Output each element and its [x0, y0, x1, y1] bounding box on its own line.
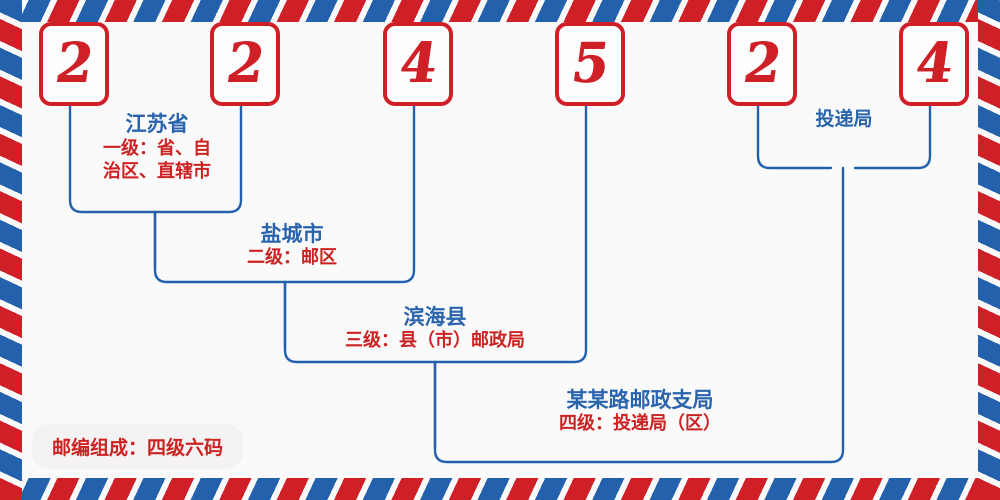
- postcode-digit-3-box[interactable]: 4: [383, 22, 453, 106]
- level-4-title: 某某路邮政支局: [480, 388, 800, 413]
- legend-text: 邮编组成：四级六码: [52, 437, 223, 459]
- postal-code-diagram: 2 2 4 5 2 4 投递局 江苏省 一级：省、自 治区、直辖市 盐城市 二级…: [0, 0, 1000, 500]
- postcode-digit-5-glyph: 2: [740, 36, 784, 91]
- level-2-title: 盐城市: [196, 222, 388, 247]
- level-1-detail-line-2: 治区、直辖市: [66, 160, 248, 183]
- level-2-label: 盐城市 二级：邮区: [196, 222, 388, 268]
- delivery-office-title: 投递局: [760, 108, 928, 130]
- postcode-digit-1-box[interactable]: 2: [39, 22, 109, 106]
- level-3-title: 滨海县: [300, 305, 570, 330]
- postcode-digit-4-glyph: 5: [568, 36, 612, 91]
- postcode-digit-2-box[interactable]: 2: [210, 22, 280, 106]
- legend-badge: 邮编组成：四级六码: [32, 424, 243, 469]
- postcode-digit-6-glyph: 4: [912, 36, 956, 91]
- postcode-digit-2-glyph: 2: [223, 36, 267, 91]
- postcode-digit-4-box[interactable]: 5: [555, 22, 625, 106]
- delivery-office-label: 投递局: [760, 108, 928, 130]
- level-1-title: 江苏省: [66, 112, 248, 137]
- level-4-detail-line-1: 四级：投递局（区）: [480, 413, 800, 434]
- postcode-digit-1-glyph: 2: [52, 36, 96, 91]
- level-1-detail-line-1: 一级：省、自: [66, 137, 248, 160]
- level-3-detail-line-1: 三级：县（市）邮政局: [300, 330, 570, 351]
- level-4-label: 某某路邮政支局 四级：投递局（区）: [480, 388, 800, 434]
- postcode-digit-3-glyph: 4: [396, 36, 440, 91]
- level-3-label: 滨海县 三级：县（市）邮政局: [300, 305, 570, 351]
- postcode-digit-5-box[interactable]: 2: [727, 22, 797, 106]
- postcode-digit-6-box[interactable]: 4: [899, 22, 969, 106]
- level-2-detail-line-1: 二级：邮区: [196, 247, 388, 268]
- level-1-label: 江苏省 一级：省、自 治区、直辖市: [66, 112, 248, 184]
